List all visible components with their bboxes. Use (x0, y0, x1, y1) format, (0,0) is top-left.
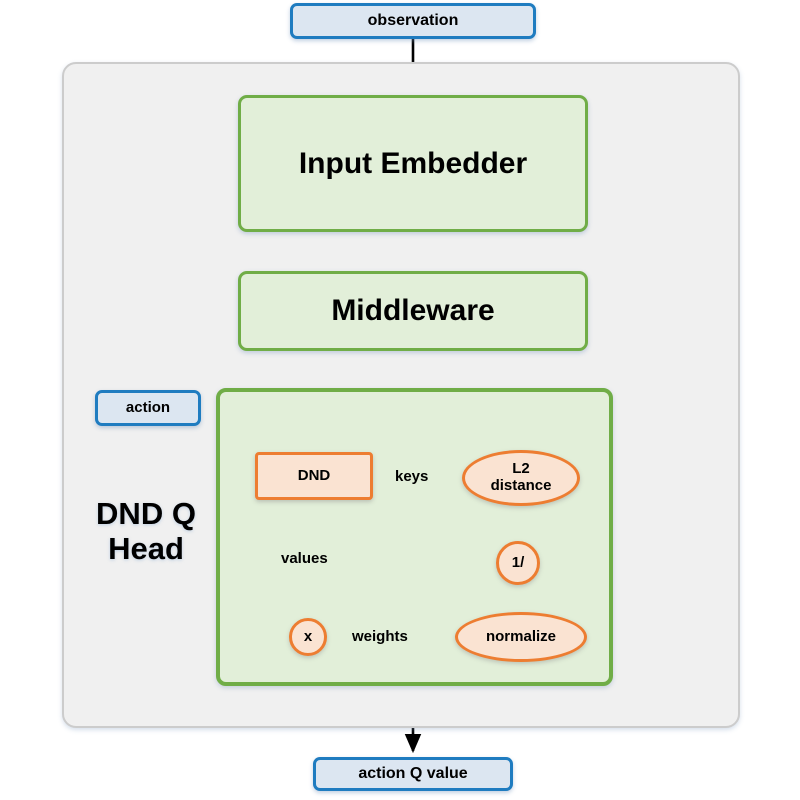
l2-distance-label-line1: L2 (491, 461, 552, 478)
action-node[interactable]: action (95, 390, 201, 426)
dnd-q-head-label-line1: DND Q (76, 496, 216, 531)
input-embedder-node[interactable]: Input Embedder (238, 95, 588, 232)
dnd-q-head-label-line2: Head (76, 531, 216, 566)
dnd-q-head-label: DND Q Head (76, 496, 216, 567)
keys-edge-label: keys (395, 468, 428, 485)
multiply-node[interactable]: x (289, 618, 327, 656)
dnd-node[interactable]: DND (255, 452, 373, 500)
weights-edge-label: weights (352, 628, 408, 645)
normalize-node[interactable]: normalize (455, 612, 587, 662)
values-edge-label: values (281, 550, 328, 567)
action-q-value-node[interactable]: action Q value (313, 757, 513, 791)
inverse-node[interactable]: 1/ (496, 541, 540, 585)
l2-distance-label-line2: distance (491, 478, 552, 495)
observation-node[interactable]: observation (290, 3, 536, 39)
l2-distance-node[interactable]: L2 distance (462, 450, 580, 506)
middleware-node[interactable]: Middleware (238, 271, 588, 351)
